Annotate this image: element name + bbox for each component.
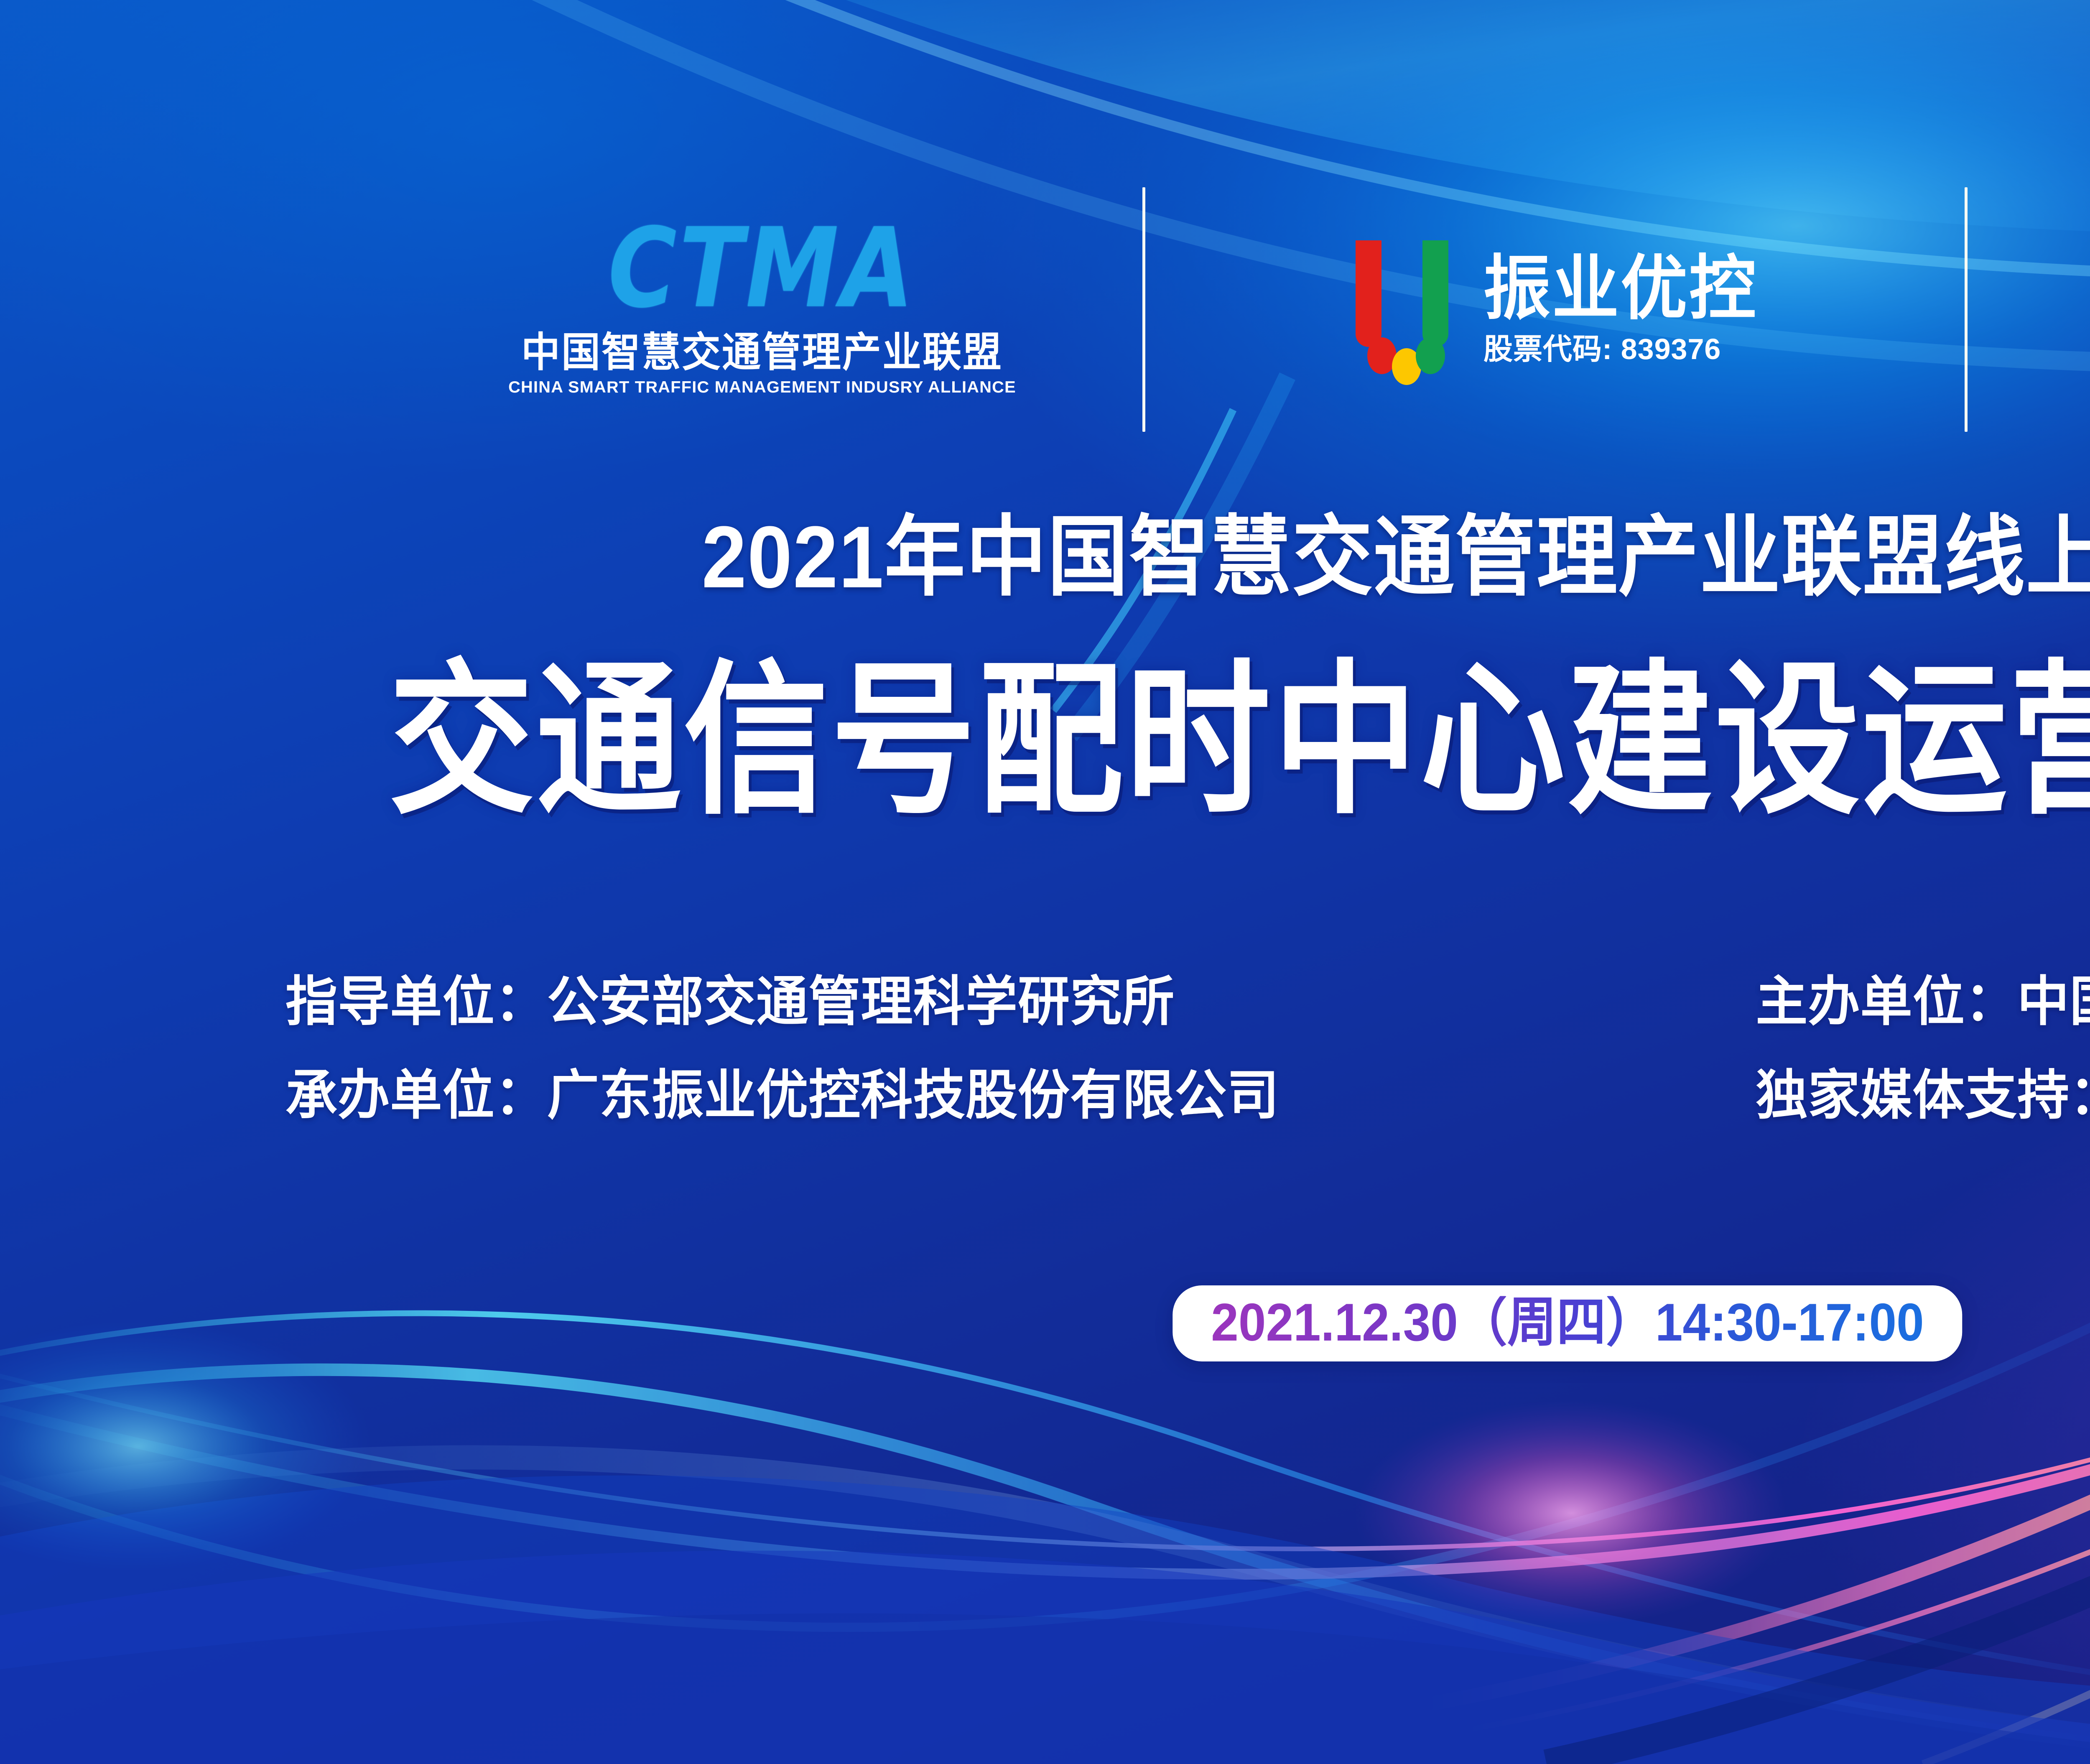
logo-divider-1 [1142,187,1145,432]
ctma-name-en: CHINA SMART TRAFFIC MANAGEMENT INDUSRY A… [508,379,1016,395]
event-datetime-badge[interactable]: 2021.12.30（周四）14:30-17:00 [1172,1285,1962,1361]
org-media: 独家媒体支持：赛文交通网 [1756,1068,2090,1124]
event-title: 交通信号配时中心建设运营经验分享 [79,658,2090,823]
sevenits-logo[interactable]: 7its .com 赛文交通网 [1968,180,2090,439]
zhenye-stock-code: 股票代码: 839376 [1483,334,1758,364]
logo-divider-2 [1965,187,1968,432]
sponsor-logo-bar: CTMA 中国智慧交通管理产业联盟 CHINA SMART TRAFFIC MA… [0,180,2090,439]
zhenye-name: 振业优控 [1483,253,1758,324]
zhenye-logo[interactable]: 振业优控 股票代码: 839376 [1145,180,1965,439]
zhenye-u-mark-icon [1352,240,1461,378]
organization-row: 承办单位：广东振业优控科技股份有限公司 独家媒体支持：赛文交通网 [0,1068,2090,1124]
org-organizer: 承办单位：广东振业优控科技股份有限公司 [26,1068,1709,1124]
ctma-logo[interactable]: CTMA 中国智慧交通管理产业联盟 CHINA SMART TRAFFIC MA… [382,180,1142,439]
ctma-name-cn: 中国智慧交通管理产业联盟 [521,332,1003,373]
event-poster: CTMA 中国智慧交通管理产业联盟 CHINA SMART TRAFFIC MA… [0,0,2090,1764]
ctma-wordmark: CTMA [608,213,916,323]
event-subtitle: 2021年中国智慧交通管理产业联盟线上技术沙龙 [125,513,2090,601]
org-host: 主办单位：中国智慧交通管理产业联盟 [1756,974,2090,1030]
organization-info: 指导单位：公安部交通管理科学研究所 主办单位：中国智慧交通管理产业联盟 承办单位… [0,974,2090,1124]
event-datetime-text: 2021.12.30（周四）14:30-17:00 [1211,1296,1924,1349]
org-guide: 指导单位：公安部交通管理科学研究所 [26,974,1709,1030]
organization-row: 指导单位：公安部交通管理科学研究所 主办单位：中国智慧交通管理产业联盟 [0,974,2090,1030]
